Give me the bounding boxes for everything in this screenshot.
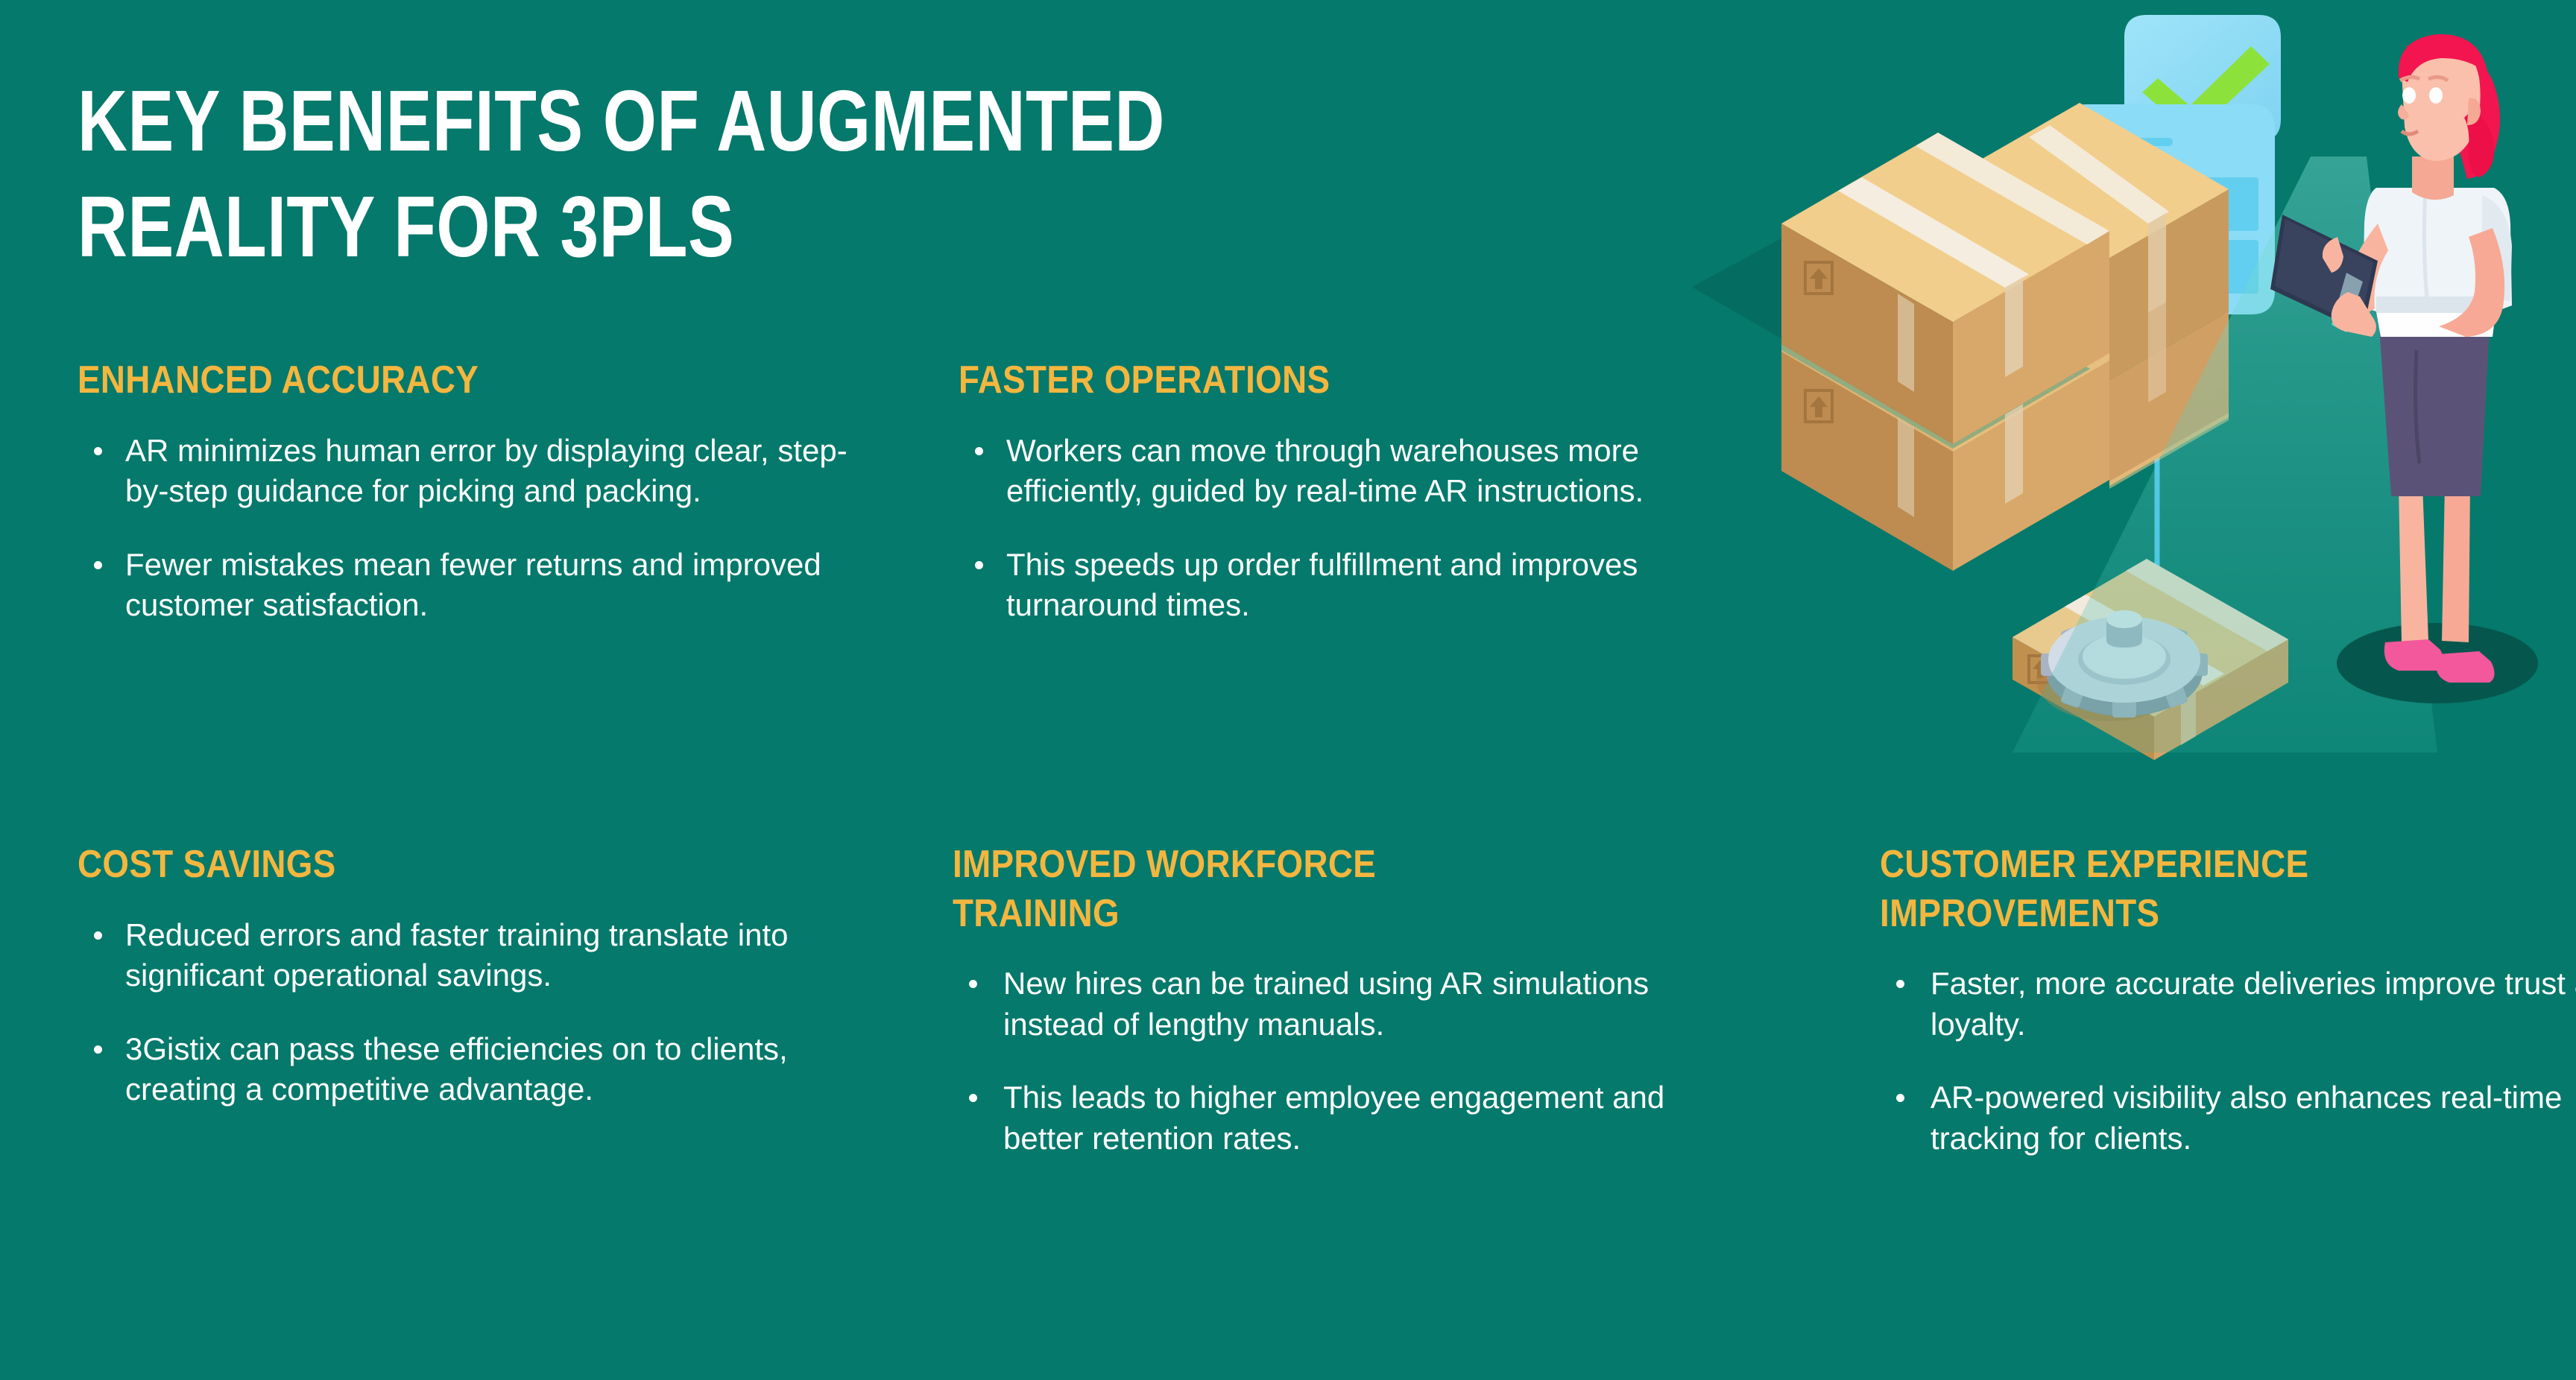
benefit-bullet-list: New hires can be trained using AR simula… — [953, 963, 1743, 1159]
skirt — [2379, 328, 2490, 496]
bullet-dot-icon — [1896, 1094, 1904, 1102]
benefit-block-cost-savings: COST SAVINGS Reduced errors and faster t… — [78, 841, 868, 1110]
benefit-heading: FASTER OPERATIONS — [959, 356, 1654, 405]
bullet-text: AR minimizes human error by displaying c… — [125, 433, 847, 509]
benefit-heading: COST SAVINGS — [78, 841, 773, 890]
list-item: AR minimizes human error by displaying c… — [78, 431, 868, 512]
bullet-dot-icon — [94, 447, 102, 455]
infographic-canvas: KEY BENEFITS OF AUGMENTED REALITY FOR 3P… — [0, 0, 2576, 1380]
bullet-text: This speeds up order fulfillment and imp… — [1006, 547, 1638, 623]
benefit-heading: IMPROVED WORKFORCE TRAINING — [953, 841, 1648, 938]
bullet-text: AR-powered visibility also enhances real… — [1931, 1080, 2562, 1156]
list-item: This speeds up order fulfillment and imp… — [959, 545, 1749, 626]
list-item: Faster, more accurate deliveries improve… — [1880, 963, 2576, 1045]
page-title: KEY BENEFITS OF AUGMENTED REALITY FOR 3P… — [78, 69, 1210, 279]
benefit-block-customer-experience-improvements: CUSTOMER EXPERIENCE IMPROVEMENTS Faster,… — [1880, 841, 2576, 1159]
list-item: This leads to higher employee engagement… — [953, 1077, 1743, 1159]
list-item: 3Gistix can pass these efficiencies on t… — [78, 1029, 868, 1110]
bullet-dot-icon — [94, 1045, 102, 1054]
list-item: Workers can move through warehouses more… — [959, 431, 1749, 512]
benefit-bullet-list: Reduced errors and faster training trans… — [78, 915, 868, 1110]
bullet-text: New hires can be trained using AR simula… — [1003, 966, 1649, 1042]
ar-warehouse-illustration — [1692, 0, 2576, 805]
benefit-heading: CUSTOMER EXPERIENCE IMPROVEMENTS — [1880, 841, 2555, 938]
neck — [2412, 156, 2454, 200]
bullet-text: Workers can move through warehouses more… — [1006, 433, 1644, 509]
list-item: Fewer mistakes mean fewer returns and im… — [78, 545, 868, 626]
bullet-dot-icon — [1896, 980, 1904, 988]
list-item: New hires can be trained using AR simula… — [953, 963, 1743, 1045]
bullet-text: This leads to higher employee engagement… — [1003, 1080, 1664, 1156]
eye-right — [2429, 87, 2443, 104]
bullet-dot-icon — [975, 447, 983, 455]
bullet-dot-icon — [975, 561, 983, 569]
bullet-dot-icon — [94, 931, 102, 940]
eye-left — [2402, 87, 2416, 104]
benefit-bullet-list: Faster, more accurate deliveries improve… — [1880, 963, 2576, 1159]
bullet-dot-icon — [969, 980, 977, 988]
leg-left — [2399, 484, 2428, 642]
bullet-text: 3Gistix can pass these efficiencies on t… — [125, 1031, 788, 1107]
bullet-dot-icon — [969, 1094, 977, 1102]
benefit-bullet-list: Workers can move through warehouses more… — [959, 431, 1749, 626]
bullet-text: Fewer mistakes mean fewer returns and im… — [125, 547, 821, 623]
leg-right — [2442, 484, 2470, 642]
bullet-dot-icon — [94, 561, 102, 569]
benefit-block-enhanced-accuracy: ENHANCED ACCURACY AR minimizes human err… — [78, 356, 868, 626]
benefit-block-faster-operations: FASTER OPERATIONS Workers can move throu… — [959, 356, 1749, 626]
list-item: Reduced errors and faster training trans… — [78, 915, 868, 996]
benefit-block-improved-workforce-training: IMPROVED WORKFORCE TRAINING New hires ca… — [953, 841, 1743, 1159]
list-item: AR-powered visibility also enhances real… — [1880, 1077, 2576, 1159]
bullet-text: Reduced errors and faster training trans… — [125, 917, 789, 993]
benefit-bullet-list: AR minimizes human error by displaying c… — [78, 431, 868, 626]
bullet-text: Faster, more accurate deliveries improve… — [1931, 966, 2576, 1042]
benefit-heading: ENHANCED ACCURACY — [78, 356, 773, 405]
